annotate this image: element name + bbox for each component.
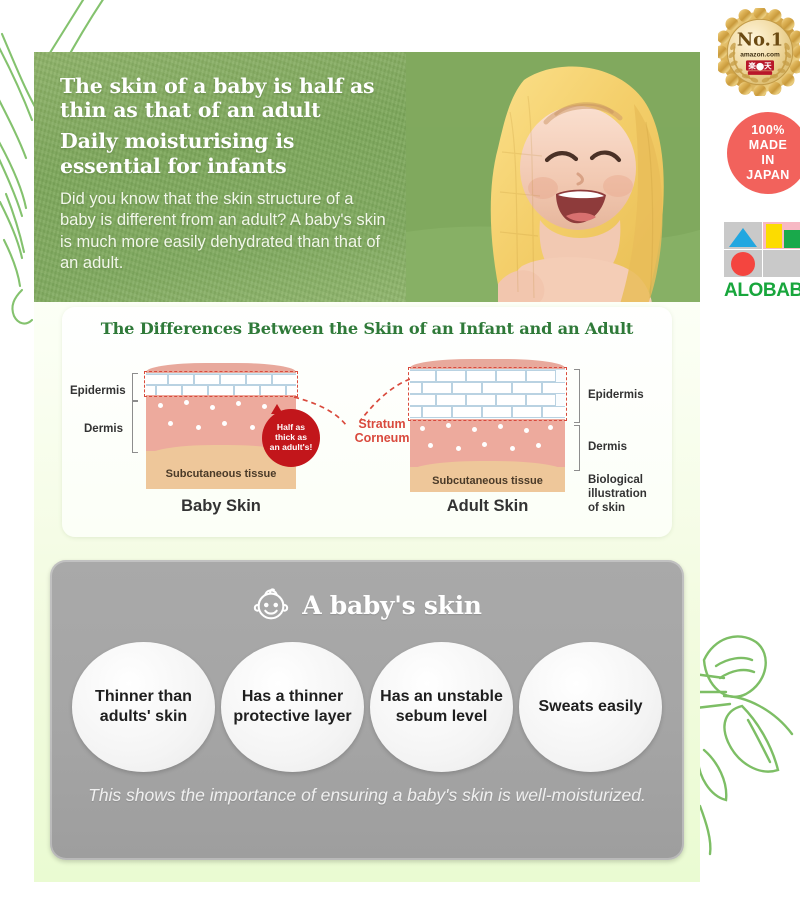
biological-illustration-note: Biological illustration of skin [588,473,664,515]
diagram-title: The Differences Between the Skin of an I… [62,319,672,338]
alobaby-brand-logo: ALOBABY [724,222,800,304]
japan-badge-line-1: 100% [751,123,785,138]
half-as-thick-bubble: Half as thick as an adult's! [262,409,320,467]
baby-dermis-bracket [132,401,138,453]
adult-dermis-layer [410,419,565,467]
baby-subcutaneous-label: Subcutaneous tissue [146,468,296,480]
hero-title-line-1: The skin of a baby is half as thin as th… [60,74,390,122]
summary-bubble: Thinner than adults' skin [72,642,215,772]
bio-note-line-1: Biological [588,473,664,487]
summary-panel-title: A baby's skin [302,591,481,620]
hero-text-block: The skin of a baby is half as thin as th… [60,74,390,275]
hero-title-line-2: Daily moisturising is essential for infa… [60,129,390,177]
adult-epidermis-label: Epidermis [588,389,644,401]
baby-stratum-corneum-box [144,371,298,397]
bio-note-line-2: illustration [588,487,664,501]
summary-panel-footnote: This shows the importance of ensuring a … [50,784,684,806]
diagram-body: Epidermis Dermis [62,347,672,532]
no1-medal-badge: No.1 amazon.com 楽⬤天 [718,8,800,96]
medal-store-rakuten: 楽⬤天 [748,60,772,70]
summary-bubble: Has a thinner protective layer [221,642,364,772]
baby-dermis-label: Dermis [84,423,123,435]
adult-skin-caption: Adult Skin [410,497,565,516]
japan-badge-line-4: JAPAN [746,168,789,183]
summary-bubble: Has an unstable sebum level [370,642,513,772]
adult-epidermis-bracket [574,369,580,423]
baby-skin-caption: Baby Skin [146,497,296,516]
baby-photo [406,52,700,302]
badge-rail: No.1 amazon.com 楽⬤天 100% MADE IN JAPAN [700,0,800,320]
baby-face-icon [252,586,290,624]
alobaby-logo-shapes [724,222,800,278]
alobaby-logo-mark [724,222,800,278]
adult-subcutaneous-layer: Subcutaneous tissue [410,467,565,492]
adult-dermis-label: Dermis [588,441,627,453]
half-bubble-line-3: an adult's! [270,443,313,453]
made-in-japan-badge: 100% MADE IN JAPAN [727,112,800,194]
summary-panel-header: A baby's skin [50,586,684,624]
japan-badge-line-3: IN [761,153,774,168]
japan-badge-line-2: MADE [749,138,787,153]
medal-rank-text: No.1 [737,29,783,50]
hero-body-text: Did you know that the skin structure of … [60,189,390,275]
adult-stratum-corneum-box [408,367,567,421]
bio-note-line-3: of skin [588,501,664,515]
hero-banner: The skin of a baby is half as thin as th… [34,52,700,302]
baby-epidermis-label: Epidermis [70,385,126,397]
baby-epidermis-bracket [132,373,138,401]
adult-dermis-bracket [574,425,580,471]
medal-store-amazon: amazon.com [740,52,780,59]
summary-bubble-list: Thinner than adults' skin Has a thinner … [72,642,662,772]
infographic-card: The skin of a baby is half as thin as th… [34,52,700,882]
adult-subcutaneous-label: Subcutaneous tissue [410,475,565,487]
adult-skin-illustration: Subcutaneous tissue [410,347,565,492]
baby-skin-summary-panel: A baby's skin Thinner than adults' skin … [50,560,684,860]
summary-bubble: Sweats easily [519,642,662,772]
skin-diagram-card: The Differences Between the Skin of an I… [62,307,672,537]
alobaby-wordmark: ALOBABY [724,280,800,302]
